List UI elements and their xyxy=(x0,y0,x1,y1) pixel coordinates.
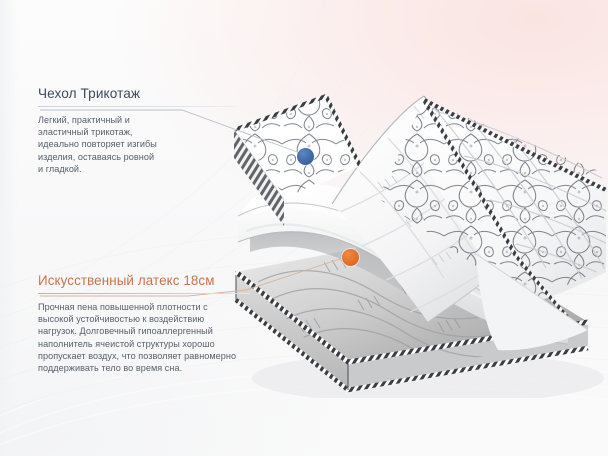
callout-cover-body: Легкий, практичный и эластичный трикотаж… xyxy=(38,114,238,175)
callout-latex-body: Прочная пена повышенной плотности с высо… xyxy=(38,301,250,374)
callout-cover-line-4: изделия, оставаясь ровной xyxy=(38,151,238,163)
callout-latex: Искусственный латекс 18см Прочная пена п… xyxy=(38,273,250,374)
mattress-illustration xyxy=(228,86,608,398)
callout-latex-line-2: высокой устойчивостью к воздействию xyxy=(38,313,250,325)
callout-cover-line-3: идеально повторяет изгибы xyxy=(38,138,238,150)
cover-callout-dot[interactable] xyxy=(297,148,314,165)
callout-cover-divider xyxy=(38,106,238,107)
callout-latex-title: Искусственный латекс 18см xyxy=(38,273,250,288)
callout-cover: Чехол Трикотаж Легкий, практичный и элас… xyxy=(38,86,238,175)
callout-latex-line-1: Прочная пена повышенной плотности с xyxy=(38,301,250,313)
callout-latex-line-4: наполнитель ячеистой структуры хорошо xyxy=(38,338,250,350)
callout-latex-line-6: поддерживать тело во время сна. xyxy=(38,362,250,374)
callout-cover-line-1: Легкий, практичный и xyxy=(38,114,238,126)
latex-callout-dot[interactable] xyxy=(342,249,359,266)
callout-latex-line-5: пропускает воздух, что позволяет равноме… xyxy=(38,350,250,362)
callout-cover-line-5: и гладкой. xyxy=(38,163,238,175)
callout-latex-divider xyxy=(38,293,250,294)
product-feature-illustration: Чехол Трикотаж Легкий, практичный и элас… xyxy=(0,0,608,456)
callout-cover-line-2: эластичный трикотаж, xyxy=(38,126,238,138)
callout-latex-line-3: нагрузок. Долговечный гипоаллергенный xyxy=(38,325,250,337)
callout-cover-title: Чехол Трикотаж xyxy=(38,86,238,101)
